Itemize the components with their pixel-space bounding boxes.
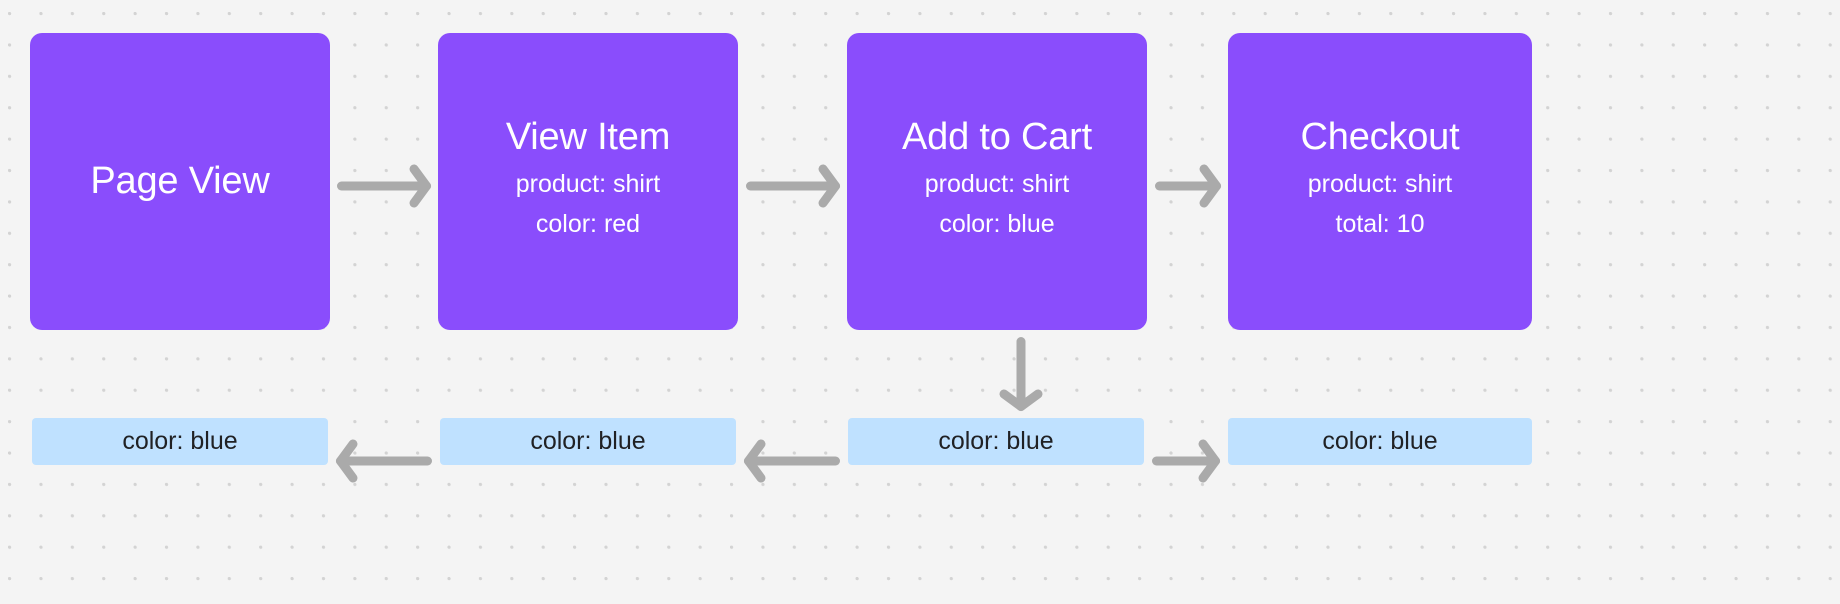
property-node-label: color: blue (530, 427, 645, 456)
property-node-label: color: blue (1322, 427, 1437, 456)
arrow-right-icon (1152, 441, 1220, 481)
event-node-title: Checkout (1301, 118, 1460, 158)
event-node-properties: product: shirt color: red (516, 164, 661, 245)
arrow-right-icon (746, 166, 840, 206)
arrow-down-icon (1001, 337, 1041, 411)
event-property: product: shirt (1308, 164, 1453, 205)
property-node-label: color: blue (938, 427, 1053, 456)
property-node-2[interactable]: color: blue (440, 418, 736, 465)
property-node-1[interactable]: color: blue (32, 418, 328, 465)
event-node-title: View Item (506, 118, 670, 158)
arrow-right-icon (1155, 166, 1221, 206)
event-node-properties: product: shirt total: 10 (1308, 164, 1453, 245)
property-node-3[interactable]: color: blue (848, 418, 1144, 465)
event-property: color: blue (939, 204, 1054, 245)
event-node-title: Page View (90, 162, 269, 202)
event-node-add-to-cart[interactable]: Add to Cart product: shirt color: blue (847, 33, 1147, 330)
event-property: color: red (536, 204, 640, 245)
arrow-right-icon (337, 166, 431, 206)
event-property: product: shirt (925, 164, 1070, 205)
arrow-left-icon (336, 441, 432, 481)
event-node-checkout[interactable]: Checkout product: shirt total: 10 (1228, 33, 1532, 330)
property-node-4[interactable]: color: blue (1228, 418, 1532, 465)
event-node-page-view[interactable]: Page View (30, 33, 330, 330)
arrow-left-icon (744, 441, 840, 481)
event-node-properties: product: shirt color: blue (925, 164, 1070, 245)
event-node-title: Add to Cart (902, 118, 1092, 158)
event-property: product: shirt (516, 164, 661, 205)
event-node-view-item[interactable]: View Item product: shirt color: red (438, 33, 738, 330)
event-property: total: 10 (1336, 204, 1425, 245)
property-node-label: color: blue (122, 427, 237, 456)
flow-canvas[interactable]: Page View View Item product: shirt color… (0, 0, 1840, 604)
